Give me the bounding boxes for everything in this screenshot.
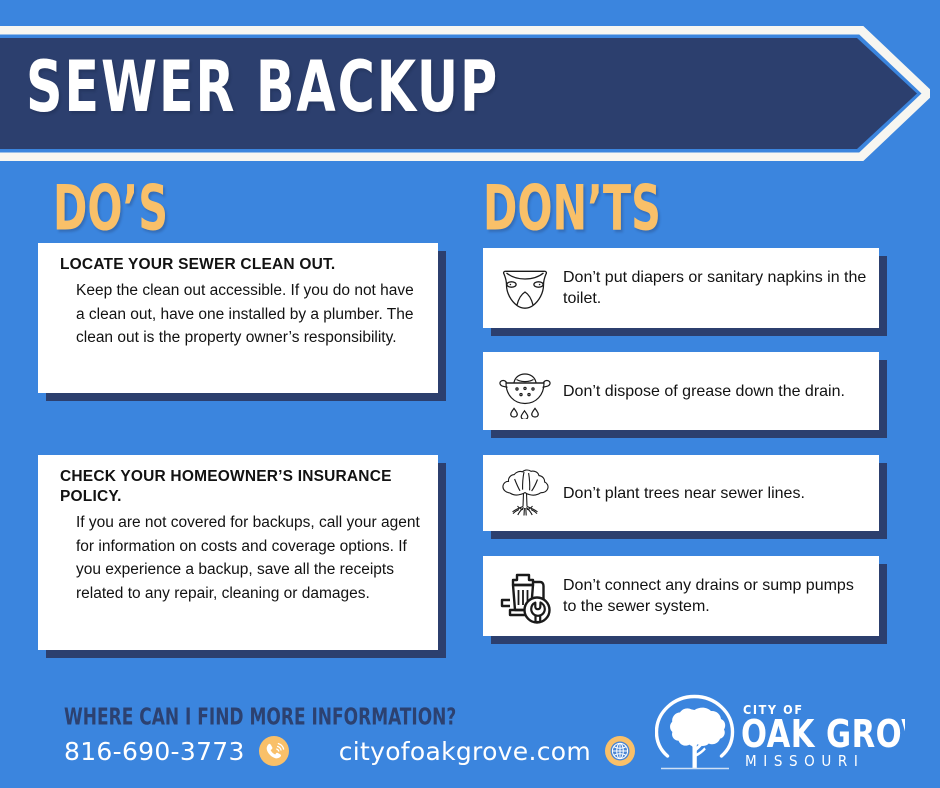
- website-link[interactable]: cityofoakgrove.com: [339, 737, 591, 766]
- footer-question: WHERE CAN I FIND MORE INFORMATION?: [64, 703, 456, 730]
- tree-roots-icon: [497, 465, 553, 521]
- globe-icon[interactable]: [605, 736, 635, 766]
- phone-icon[interactable]: [259, 736, 289, 766]
- page-title: SEWER BACKUP: [26, 52, 499, 123]
- logo-line-missouri: MISSOURI: [745, 752, 864, 770]
- do-card-title: LOCATE YOUR SEWER CLEAN OUT.: [60, 255, 420, 275]
- dont-card: Don’t plant trees near sewer lines.: [483, 455, 879, 531]
- oak-tree-icon: [657, 697, 733, 769]
- sump-pump-icon: [497, 568, 553, 624]
- do-card-body: Keep the clean out accessible. If you do…: [60, 279, 420, 350]
- do-card-title: CHECK YOUR HOMEOWNER’S INSURANCE POLICY.: [60, 467, 420, 507]
- donts-heading: DON’TS: [483, 172, 661, 245]
- do-card-body: If you are not covered for backups, call…: [60, 511, 420, 605]
- do-card: CHECK YOUR HOMEOWNER’S INSURANCE POLICY.…: [38, 455, 438, 650]
- dont-card-text: Don’t dispose of grease down the drain.: [563, 381, 845, 402]
- dont-card: Don’t dispose of grease down the drain.: [483, 352, 879, 430]
- city-logo: CITY OF OAK GROVE MISSOURI: [655, 690, 905, 782]
- dont-card: Don’t connect any drains or sump pumps t…: [483, 556, 879, 636]
- diaper-icon: [497, 260, 553, 316]
- dont-card-text: Don’t put diapers or sanitary napkins in…: [563, 267, 867, 309]
- grease-pot-icon: [497, 363, 553, 419]
- dos-heading: DO’S: [53, 172, 168, 245]
- dont-card-text: Don’t plant trees near sewer lines.: [563, 483, 805, 504]
- footer-contact-row: 816-690-3773 cityofoakgrove.com: [64, 736, 635, 766]
- dont-card-text: Don’t connect any drains or sump pumps t…: [563, 575, 867, 617]
- do-card: LOCATE YOUR SEWER CLEAN OUT. Keep the cl…: [38, 243, 438, 393]
- dont-card: Don’t put diapers or sanitary napkins in…: [483, 248, 879, 328]
- logo-line-oak-grove: OAK GROVE: [741, 712, 905, 756]
- phone-number[interactable]: 816-690-3773: [64, 737, 245, 766]
